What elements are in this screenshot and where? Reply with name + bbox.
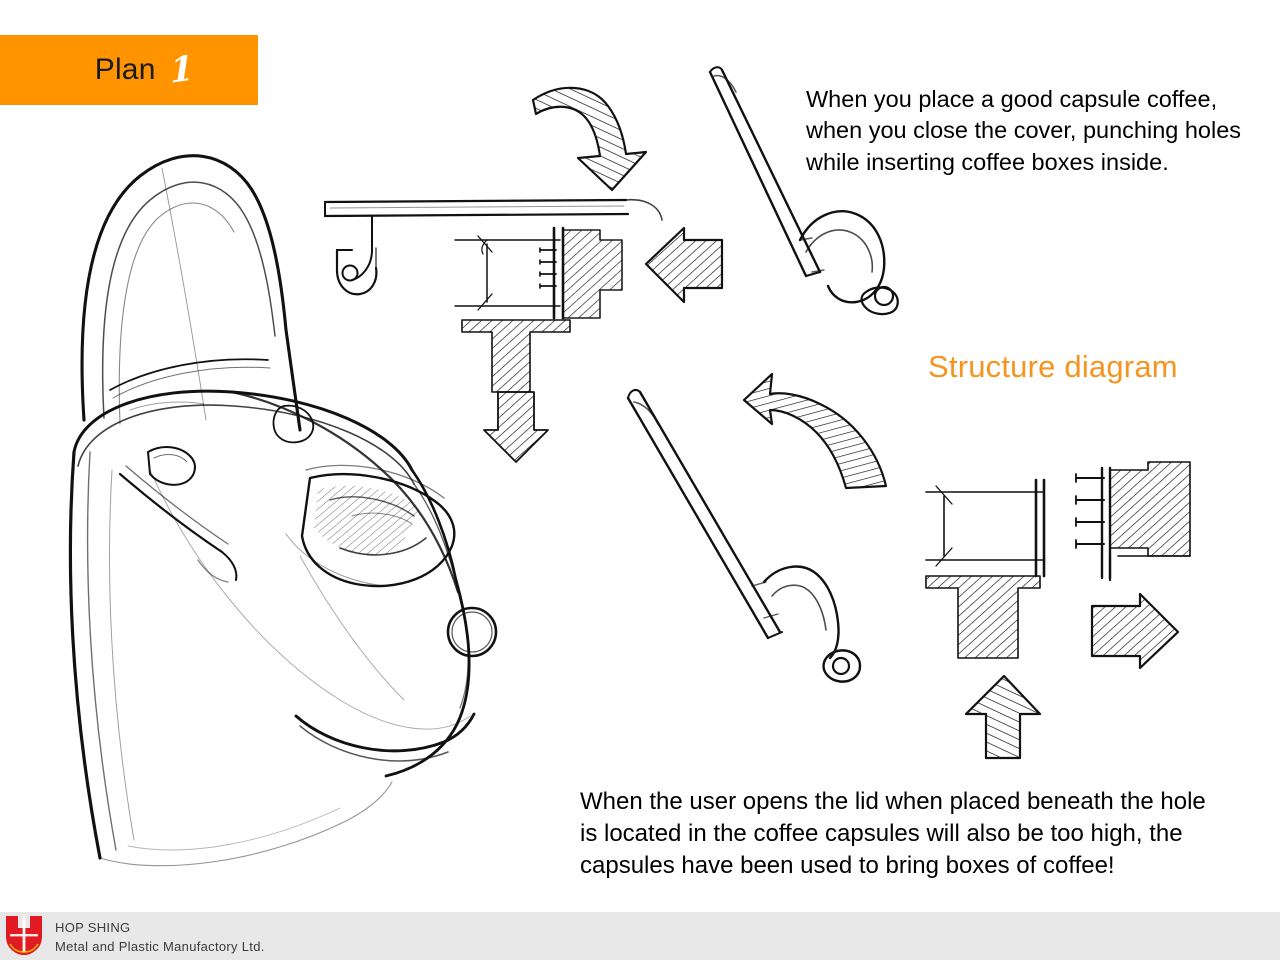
company-subtitle: Metal and Plastic Manufactory Ltd.	[55, 938, 265, 957]
plan-label: Plan	[95, 53, 156, 87]
curved-down-arrow	[533, 88, 646, 190]
outro-paragraph: When the user opens the lid when placed …	[580, 786, 1210, 882]
right-pointing-arrow	[1092, 594, 1178, 668]
footer-company-info: HOP SHING Metal and Plastic Manufactory …	[55, 919, 265, 957]
needle-plate-cross-section	[455, 228, 622, 392]
hop-shing-logo	[4, 910, 44, 956]
intro-paragraph: When you place a good capsule coffee, wh…	[806, 84, 1276, 178]
piercing-needles-cross-section	[1076, 462, 1190, 580]
left-pointing-arrow	[646, 228, 722, 302]
top-plate-hook-cross-section	[325, 200, 662, 295]
capsule-coffee-machine-sketch	[70, 156, 496, 866]
capsule-holder-cross-section	[926, 480, 1044, 658]
curved-up-left-arrow	[744, 374, 886, 488]
lower-lever-arm	[628, 390, 860, 682]
plan-banner: Plan 1	[0, 35, 258, 105]
up-pointing-arrow	[966, 676, 1040, 758]
structure-diagram-label: Structure diagram	[928, 349, 1178, 385]
company-name: HOP SHING	[55, 920, 130, 935]
lower-plate-cross-section	[484, 392, 548, 462]
plan-number: 1	[169, 51, 194, 88]
